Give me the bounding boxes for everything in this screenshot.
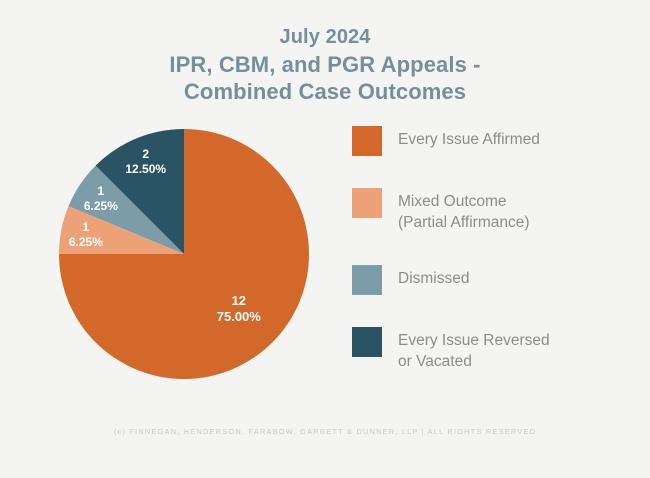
pie-slice-percent: 6.25% [69,235,103,249]
pie-slice-percent: 75.00% [217,309,262,324]
legend-label-line-1: Every Issue Reversed [398,330,550,351]
chart-container: July 2024 IPR, CBM, and PGR Appeals - Co… [0,0,650,478]
legend-swatch-mixed-outcome [352,188,382,218]
pie-slice-count: 1 [83,220,90,234]
legend-label-line-1: Dismissed [398,268,469,289]
legend-item-label: Mixed Outcome(Partial Affirmance) [398,188,530,233]
legend-label-line-2: (Partial Affirmance) [398,212,530,233]
legend-swatch-every-issue-reversed [352,327,382,357]
legend-swatch-every-issue-affirmed [352,126,382,156]
legend-item[interactable]: Mixed Outcome(Partial Affirmance) [352,188,637,233]
legend-item-label: Dismissed [398,265,469,289]
legend-label-line-1: Every Issue Affirmed [398,129,540,150]
legend-label-line-2: or Vacated [398,351,550,372]
legend-item[interactable]: Every Issue Affirmed [352,126,637,156]
legend: Every Issue AffirmedMixed Outcome(Partia… [352,126,637,372]
legend-item-label: Every Issue Affirmed [398,126,540,150]
pie-slice-percent: 6.25% [84,199,118,213]
pie-slices-group [59,129,309,379]
legend-swatch-dismissed [352,265,382,295]
title-line-2: IPR, CBM, and PGR Appeals - [0,51,650,78]
legend-item[interactable]: Every Issue Reversedor Vacated [352,327,637,372]
legend-label-line-1: Mixed Outcome [398,191,530,212]
pie-slice-count: 1 [98,184,105,198]
title-line-3: Combined Case Outcomes [0,78,650,105]
pie-chart-svg: 1275.00%16.25%16.25%212.50% [58,128,310,380]
page-title: July 2024 IPR, CBM, and PGR Appeals - Co… [0,24,650,105]
legend-item[interactable]: Dismissed [352,265,637,295]
pie-slice-count: 12 [232,293,246,308]
pie-slice-percent: 12.50% [125,162,166,176]
title-line-1: July 2024 [0,24,650,51]
pie-chart: 1275.00%16.25%16.25%212.50% [58,128,310,380]
legend-item-label: Every Issue Reversedor Vacated [398,327,550,372]
footer-copyright: (c) FINNEGAN, HENDERSON, FARABOW, GARRET… [0,427,650,436]
pie-slice-count: 2 [142,147,149,161]
